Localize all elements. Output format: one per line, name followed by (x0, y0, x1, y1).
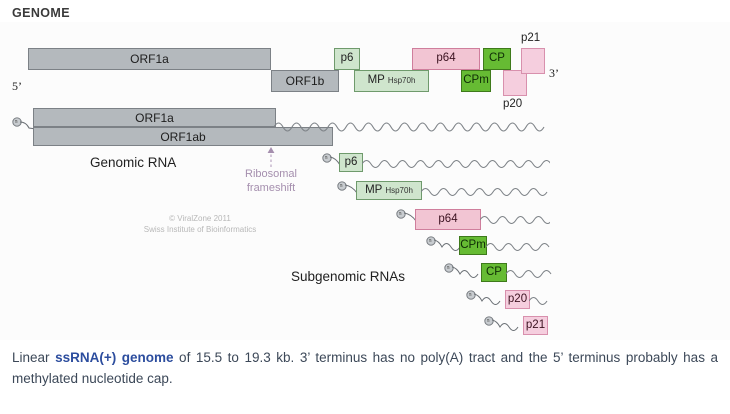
gene-box-mp-label: MP (368, 75, 385, 87)
credit-line-1: © ViralZone 2011 (120, 214, 280, 225)
cp-cap-linker (452, 266, 482, 279)
three-prime-label: 3’ (549, 66, 559, 81)
subgenomic-box-p21: p21 (523, 316, 548, 335)
gene-box-p6: p6 (334, 48, 360, 70)
subgenomic-box-mp-label: MP (365, 185, 382, 197)
subgenomic-box-p6-label: p6 (345, 157, 358, 169)
genomic-orf1a-label: ORF1a (135, 112, 174, 124)
subgenomic-box-p20: p20 (505, 290, 530, 309)
gene-box-p21-label: p21 (521, 32, 540, 44)
frameshift-line-1: Ribosomal (222, 168, 320, 182)
subgenomic-box-cp: CP (481, 263, 507, 282)
subgenomic-rna-line-cpm (486, 239, 550, 253)
gene-box-p64-label: p64 (436, 53, 455, 65)
copyright-credit: © ViralZone 2011 Swiss Institute of Bioi… (120, 214, 280, 236)
ribosomal-frameshift-label: Ribosomal frameshift (222, 168, 320, 196)
gene-box-mp-sublabel: Hsp70h (388, 77, 416, 85)
gene-box-cpm: CPm (461, 70, 491, 92)
subgenomic-rna-line-p64 (480, 212, 550, 226)
gene-box-orf1a: ORF1a (28, 48, 271, 70)
subgenomic-rna-line-p6 (362, 156, 550, 170)
p21-cap-linker (492, 319, 526, 332)
genomic-rna-caption: Genomic RNA (90, 155, 176, 170)
genomic-rna-wavy-line (274, 118, 550, 132)
subgenomic-box-cpm: CPm (459, 236, 487, 255)
gene-box-orf1b-label: ORF1b (286, 75, 325, 87)
subgenomic-rna-line-cp (506, 266, 552, 280)
caption-part-1: Linear (12, 350, 55, 365)
subgenomic-box-p21-label: p21 (526, 320, 545, 332)
gene-box-cpm-label: CPm (463, 75, 489, 87)
gene-box-orf1b: ORF1b (271, 70, 339, 92)
subgenomic-box-cp-label: CP (486, 267, 502, 279)
subgenomic-rna-line-mp (421, 184, 550, 198)
genomic-orf1ab-label: ORF1ab (160, 131, 205, 143)
gene-box-p21 (521, 48, 545, 74)
ssrna-genome-link[interactable]: ssRNA(+) genome (55, 350, 173, 365)
p20-cap-linker (474, 293, 508, 306)
gene-box-cp: CP (483, 48, 511, 70)
cpm-cap-linker (434, 239, 460, 252)
gene-box-mp: MP Hsp70h (354, 70, 429, 92)
page-title: GENOME (12, 6, 70, 20)
figure-caption: Linear ssRNA(+) genome of 15.5 to 19.3 k… (12, 348, 718, 390)
subgenomic-box-p64: p64 (415, 209, 481, 230)
subgenomic-rna-line-p20 (529, 293, 551, 307)
genomic-orf1a-box: ORF1a (33, 108, 276, 127)
subgenomic-box-p20-label: p20 (508, 294, 527, 306)
gene-box-orf1a-label: ORF1a (130, 53, 169, 65)
frameshift-line-2: frameshift (222, 182, 320, 196)
gene-box-p6-label: p6 (341, 53, 354, 65)
ribosomal-frameshift-arrow-icon (265, 146, 277, 168)
subgenomic-box-p64-label: p64 (438, 214, 457, 226)
gene-box-p20-label: p20 (503, 98, 522, 110)
genome-diagram: 5’ ORF1a ORF1b p6 MP Hsp70h p64 CPm CP p… (0, 22, 730, 340)
subgenomic-box-mp-sublabel: Hsp70h (385, 187, 413, 195)
five-prime-label: 5’ (12, 79, 22, 94)
subgenomic-box-cpm-label: CPm (460, 240, 486, 252)
subgenomic-box-mp: MP Hsp70h (356, 181, 422, 200)
subgenomic-rnas-caption: Subgenomic RNAs (291, 269, 405, 284)
subgenomic-box-p6: p6 (339, 153, 363, 172)
gene-box-p64: p64 (412, 48, 480, 70)
credit-line-2: Swiss Institute of Bioinformatics (120, 225, 280, 236)
gene-box-cp-label: CP (489, 53, 505, 65)
